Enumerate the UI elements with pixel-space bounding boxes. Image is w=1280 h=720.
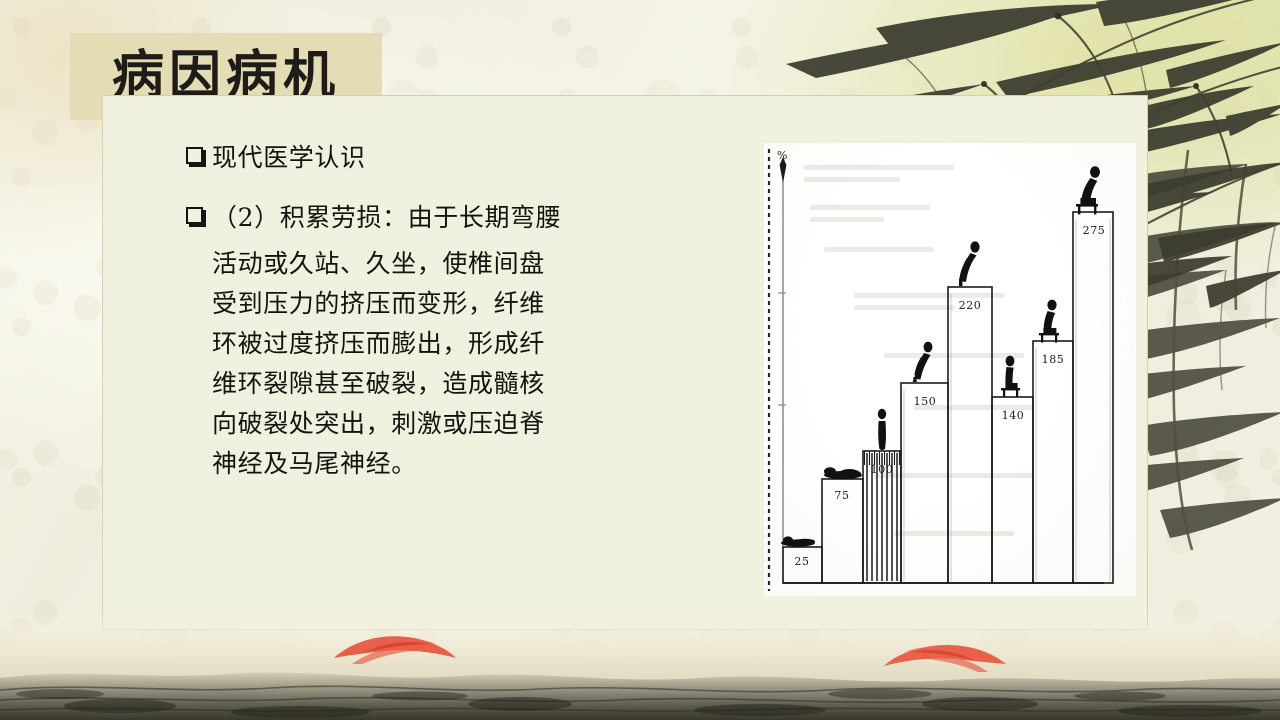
body-text-block: 现代医学认识 （2）积累劳损：由于长期弯腰 活动或久站、久坐，使椎间盘 受到压力… xyxy=(186,138,706,484)
spacer xyxy=(186,184,706,198)
slide: 病因病机 现代医学认识 （2）积累劳损：由于长期弯腰 活动或久站、久坐，使椎间盘… xyxy=(0,0,1280,720)
paragraph-line: 维环裂隙甚至破裂，造成髓核 xyxy=(212,364,706,404)
disc-pressure-chart-image: % xyxy=(764,143,1136,596)
list-item-label: 现代医学认识 xyxy=(212,138,366,178)
paragraph-line: 神经及马尾神经。 xyxy=(212,444,706,484)
list-item: 现代医学认识 xyxy=(186,138,706,178)
svg-text:%: % xyxy=(777,149,787,162)
page-title: 病因病机 xyxy=(112,50,340,102)
paragraph-line: 环被过度挤压而膨出，形成纤 xyxy=(212,324,706,364)
svg-text:25: 25 xyxy=(794,555,809,568)
svg-text:140: 140 xyxy=(1002,409,1025,422)
paragraph-line: 活动或久站、久坐，使椎间盘 xyxy=(212,244,706,284)
ink-shore-texture xyxy=(0,634,1280,720)
square-bullet-icon xyxy=(186,207,203,224)
list-item-label: （2）积累劳损：由于长期弯腰 xyxy=(212,198,561,238)
svg-text:275: 275 xyxy=(1083,224,1106,237)
paragraph-line: 受到压力的挤压而变形，纤维 xyxy=(212,284,706,324)
svg-text:185: 185 xyxy=(1042,353,1065,366)
list-item: （2）积累劳损：由于长期弯腰 xyxy=(186,198,706,238)
bottom-ink-landscape xyxy=(0,610,1280,720)
svg-text:220: 220 xyxy=(959,299,982,312)
svg-text:150: 150 xyxy=(914,395,937,408)
paragraph-line: 向破裂处突出，刺激或压迫脊 xyxy=(212,404,706,444)
svg-text:100: 100 xyxy=(871,463,894,476)
square-bullet-icon xyxy=(186,147,203,164)
paragraph-continuation: 活动或久站、久坐，使椎间盘 受到压力的挤压而变形，纤维 环被过度挤压而膨出，形成… xyxy=(212,244,706,484)
svg-text:75: 75 xyxy=(834,489,849,502)
